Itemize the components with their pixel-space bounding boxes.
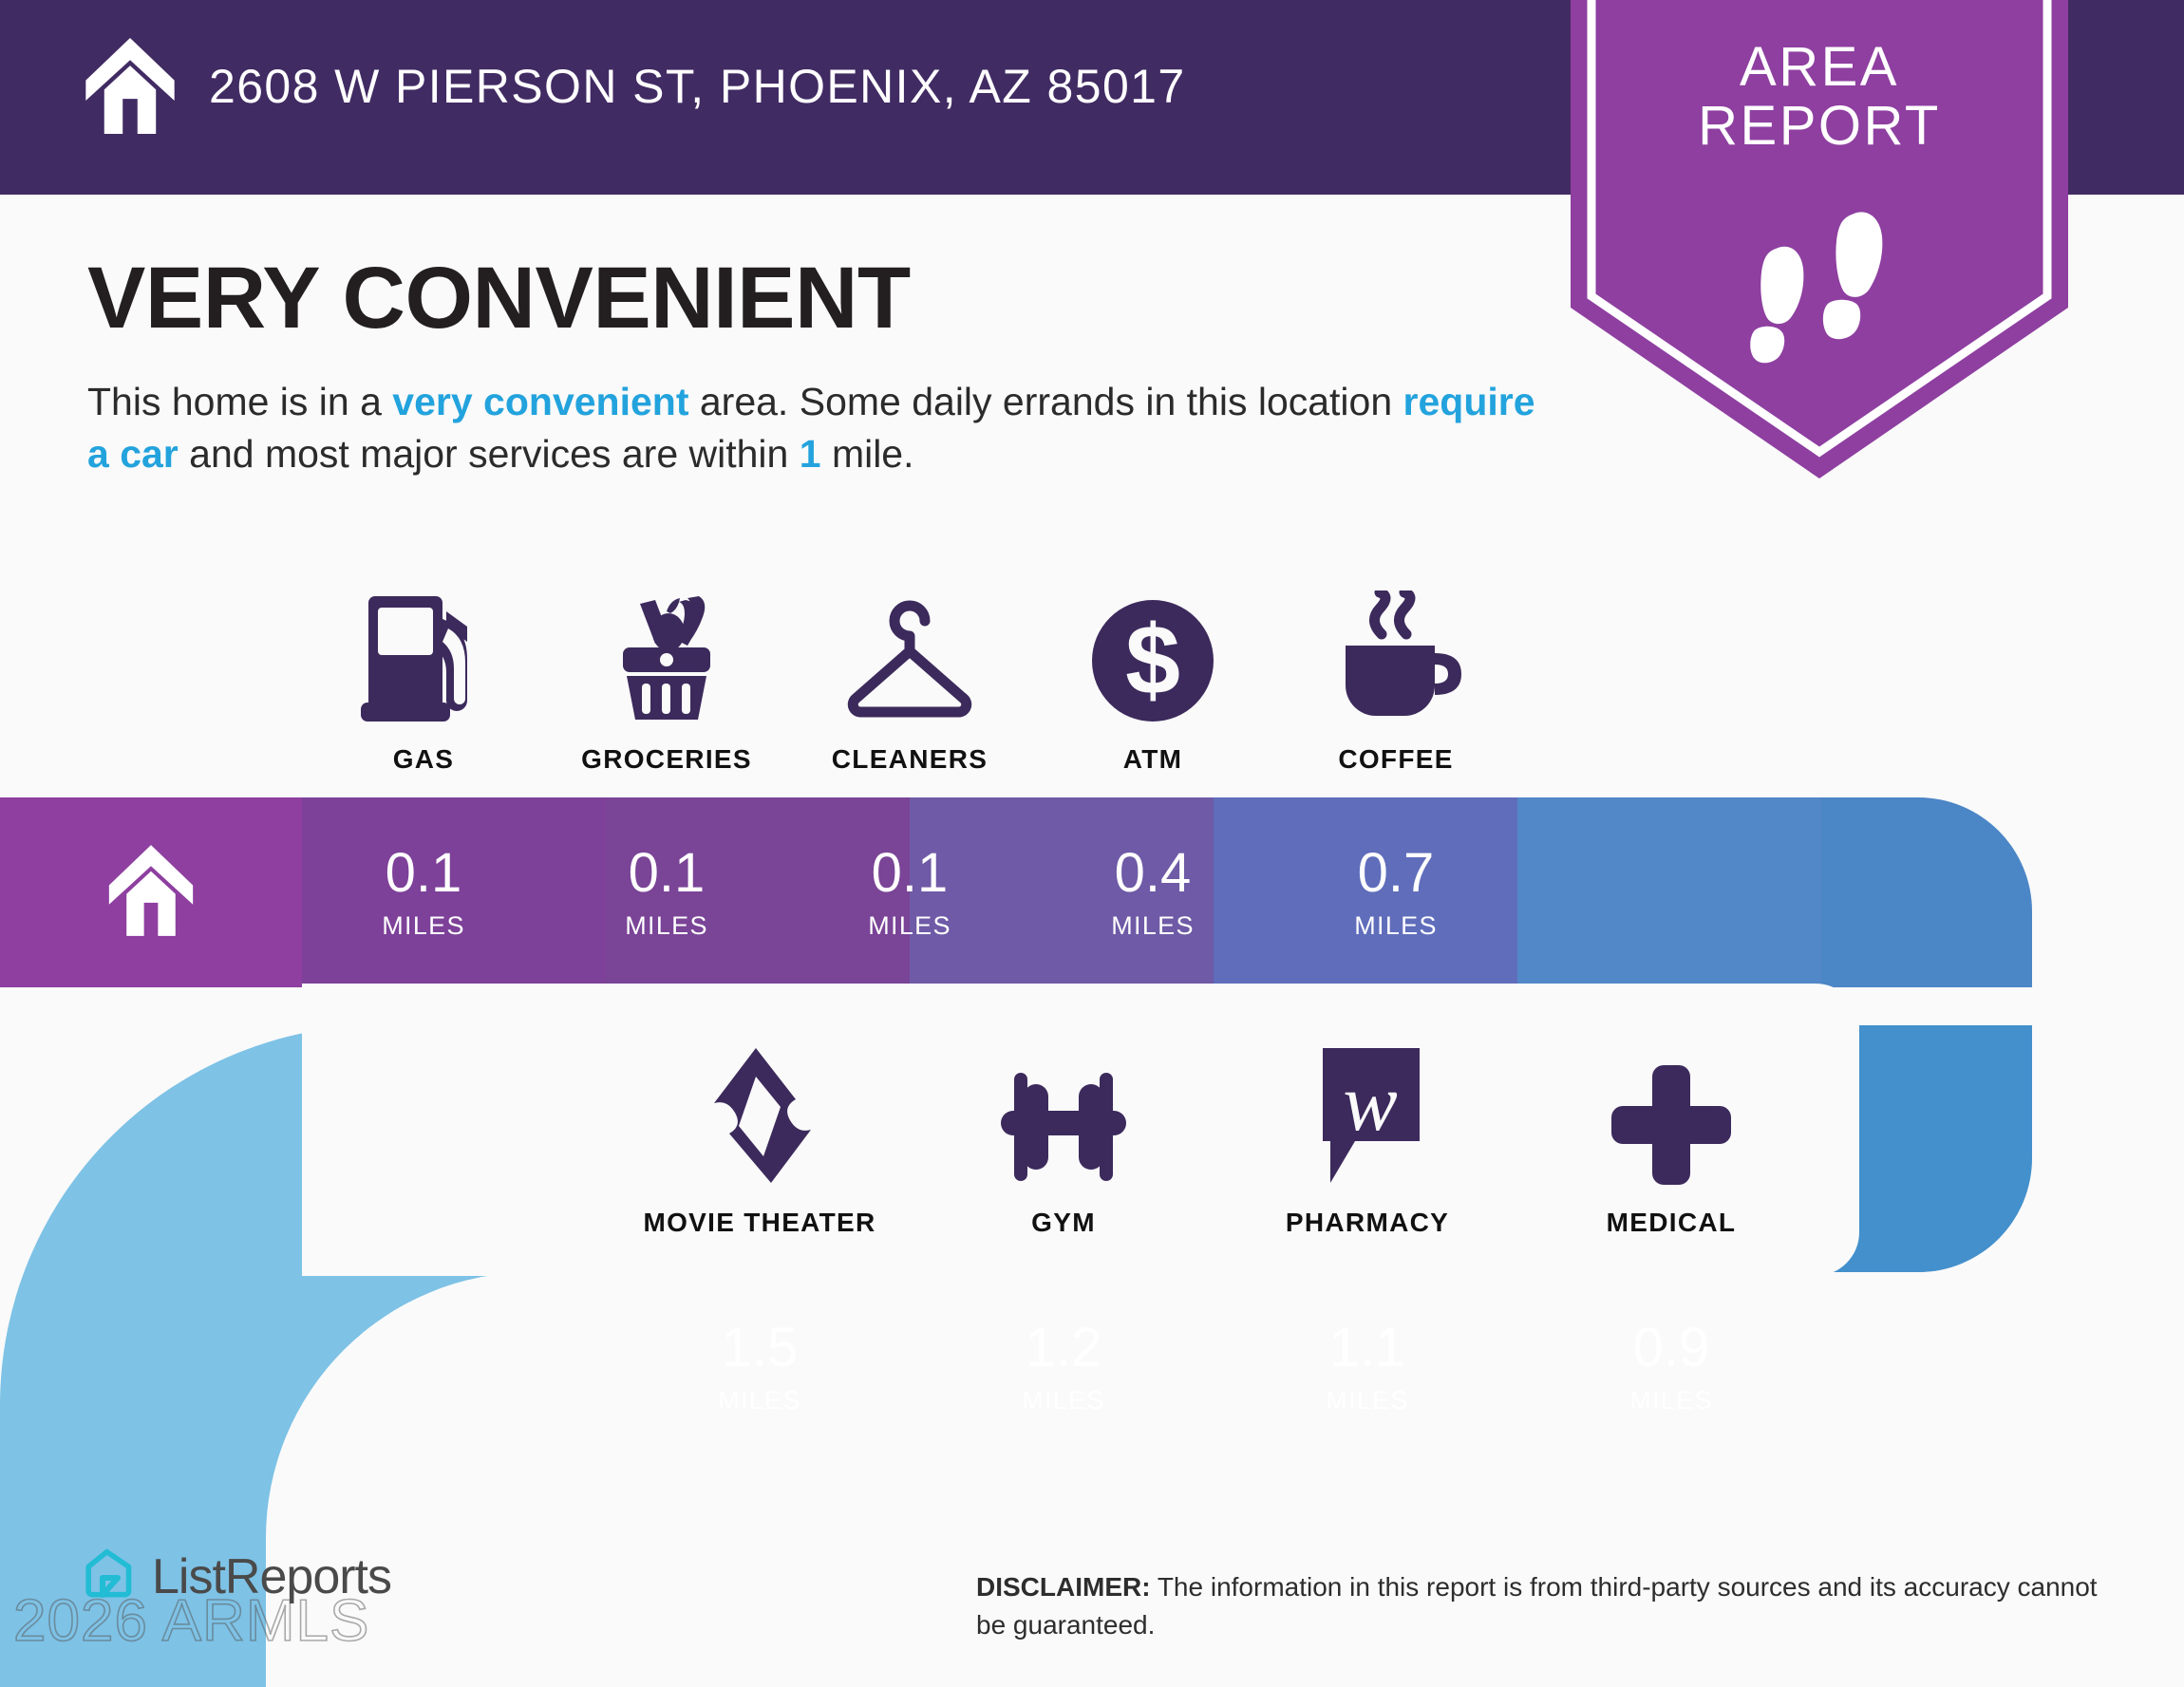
walgreens-w-icon: w: [1309, 1044, 1425, 1187]
svg-text:w: w: [1343, 1057, 1397, 1148]
amenity-atm: $ ATM: [1031, 581, 1274, 775]
hero-highlight-convenient: very convenient: [392, 380, 688, 423]
distance-value: 1.1: [1329, 1321, 1406, 1376]
badge-title: AREA REPORT: [1571, 38, 2068, 156]
amenity-movie-theater: MOVIE THEATER: [608, 1044, 912, 1238]
amenity-gas-label: GAS: [393, 744, 455, 775]
distance-value: 0.9: [1633, 1321, 1710, 1376]
distance-values-row-2: 1.5 MILES 1.2 MILES 1.1 MILES 0.9 MILES: [608, 1272, 1823, 1462]
hero-description: This home is in a very convenient area. …: [87, 376, 1550, 479]
distance-cell-coffee: 0.7 MILES: [1274, 797, 1517, 987]
distance-value: 0.7: [1358, 846, 1435, 901]
gas-pump-icon: [361, 581, 486, 723]
amenity-groceries: GROCERIES: [545, 581, 788, 775]
amenity-atm-label: ATM: [1123, 744, 1182, 775]
amenity-coffee: COFFEE: [1274, 581, 1517, 775]
bar-coffee: [1517, 797, 1821, 987]
amenity-medical-label: MEDICAL: [1607, 1208, 1737, 1238]
amenity-pharmacy: w PHARMACY: [1215, 1044, 1519, 1238]
header-content: 2608 W PIERSON ST, PHOENIX, AZ 85017: [84, 36, 1186, 136]
bar-elbow-right-top: [1821, 797, 2184, 987]
basket-icon: [600, 581, 733, 723]
distance-value: 1.5: [722, 1321, 799, 1376]
page-title: VERY CONVENIENT: [87, 254, 1569, 342]
hero-text-1: This home is in a: [87, 380, 392, 423]
amenity-icons-row-2: MOVIE THEATER GYM: [608, 1044, 1823, 1238]
distance-value: 0.4: [1115, 846, 1192, 901]
hero-text-3: and most major services are within: [179, 432, 800, 476]
amenity-gym: GYM: [912, 1044, 1215, 1238]
svg-text:$: $: [1125, 606, 1180, 716]
distance-unit: MILES: [1022, 1388, 1105, 1414]
distance-cell-medical: 0.9 MILES: [1519, 1272, 1823, 1462]
distance-cell-atm: 0.4 MILES: [1031, 797, 1274, 987]
amenity-icons-row-1: GAS: [302, 581, 1517, 775]
distance-unit: MILES: [868, 913, 951, 939]
distance-cell-movie-theater: 1.5 MILES: [608, 1272, 912, 1462]
property-address: 2608 W PIERSON ST, PHOENIX, AZ 85017: [209, 59, 1186, 114]
coffee-cup-icon: [1328, 581, 1463, 723]
distance-value: 1.2: [1026, 1321, 1102, 1376]
distance-value: 0.1: [386, 846, 462, 901]
distance-values-row-1: 0.1 MILES 0.1 MILES 0.1 MILES 0.4 MILES …: [302, 797, 1517, 987]
dumbbell-icon: [991, 1044, 1136, 1187]
amenity-coffee-label: COFFEE: [1338, 744, 1453, 775]
hero-text-4: mile.: [821, 432, 914, 476]
disclaimer: DISCLAIMER: The information in this repo…: [976, 1568, 2125, 1644]
distance-cell-cleaners: 0.1 MILES: [788, 797, 1031, 987]
distance-unit: MILES: [1629, 1388, 1713, 1414]
bar-elbow-right-bottom: [1821, 968, 2184, 1282]
distance-cell-pharmacy: 1.1 MILES: [1215, 1272, 1519, 1462]
distance-unit: MILES: [625, 913, 708, 939]
area-report-page: 2608 W PIERSON ST, PHOENIX, AZ 85017 ARE…: [0, 0, 2184, 1687]
distance-value: 0.1: [629, 846, 706, 901]
distance-unit: MILES: [1326, 1388, 1409, 1414]
amenity-cleaners: CLEANERS: [788, 581, 1031, 775]
area-report-badge: AREA REPORT: [1571, 0, 2068, 478]
hero-highlight-miles: 1: [800, 432, 821, 476]
dollar-coin-icon: $: [1090, 581, 1215, 723]
medical-cross-icon: [1610, 1044, 1733, 1187]
distance-unit: MILES: [718, 1388, 801, 1414]
amenity-groceries-label: GROCERIES: [581, 744, 752, 775]
amenity-pharmacy-label: PHARMACY: [1286, 1208, 1449, 1238]
home-icon: [84, 36, 177, 136]
distance-unit: MILES: [1354, 913, 1438, 939]
home-marker-cell: [0, 797, 302, 987]
amenity-medical: MEDICAL: [1519, 1044, 1823, 1238]
distance-unit: MILES: [382, 913, 465, 939]
mls-watermark: 2026 ARMLS: [13, 1587, 369, 1655]
distance-cell-gas: 0.1 MILES: [302, 797, 545, 987]
badge-line-1: AREA: [1571, 38, 2068, 97]
amenity-cleaners-label: CLEANERS: [832, 744, 988, 775]
badge-line-2: REPORT: [1571, 97, 2068, 156]
distance-unit: MILES: [1111, 913, 1195, 939]
hero-text-2: area. Some daily errands in this locatio…: [688, 380, 1403, 423]
amenity-gym-label: GYM: [1031, 1208, 1096, 1238]
amenity-gas: GAS: [302, 581, 545, 775]
distance-value: 0.1: [872, 846, 949, 901]
distance-cell-groceries: 0.1 MILES: [545, 797, 788, 987]
disclaimer-label: DISCLAIMER:: [976, 1572, 1151, 1602]
distance-cell-gym: 1.2 MILES: [912, 1272, 1215, 1462]
ticket-icon: [697, 1044, 822, 1187]
hero-section: VERY CONVENIENT This home is in a very c…: [87, 254, 1569, 479]
home-icon: [107, 843, 195, 943]
hanger-icon: [838, 581, 981, 723]
amenity-movie-theater-label: MOVIE THEATER: [643, 1208, 875, 1238]
